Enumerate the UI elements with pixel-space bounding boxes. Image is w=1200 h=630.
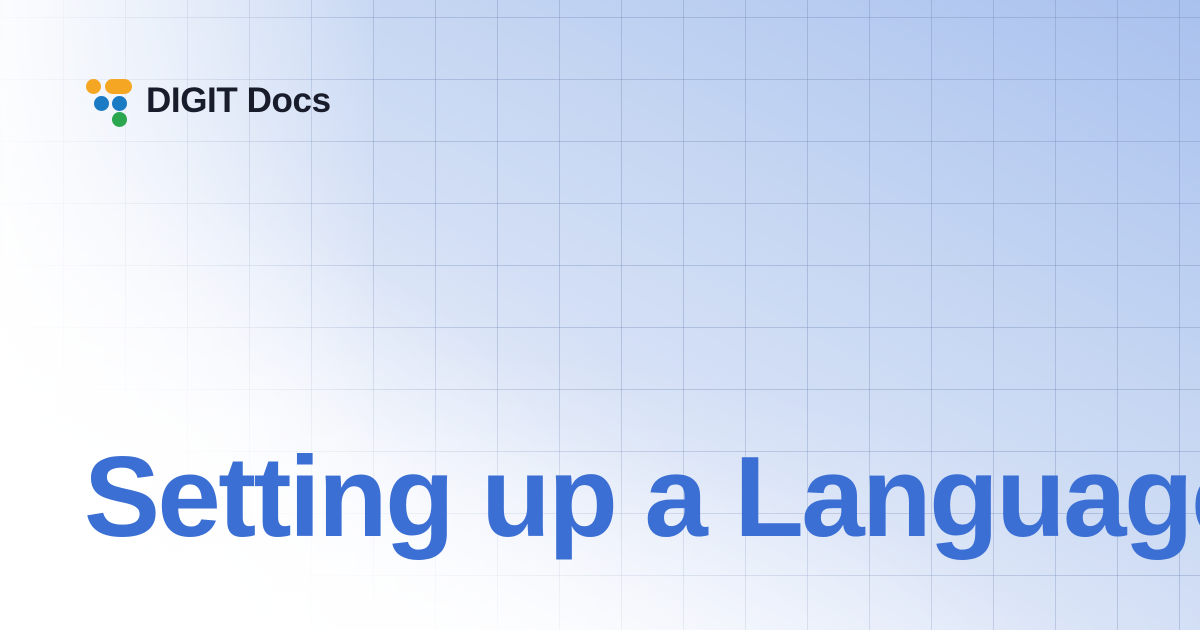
card-content: DIGIT Docs Setting up a Language <box>0 0 1200 630</box>
logo-orange-pill-icon <box>105 79 132 94</box>
brand-lockup: DIGIT Docs <box>84 72 331 128</box>
page-title: Setting up a Language <box>84 438 1116 558</box>
brand-name: DIGIT Docs <box>146 83 331 118</box>
og-card: DIGIT Docs Setting up a Language <box>0 0 1200 630</box>
digit-logo-icon <box>84 72 132 128</box>
logo-green-circle-icon <box>112 112 127 127</box>
logo-blue-circle-right-icon <box>112 96 127 111</box>
logo-blue-circle-left-icon <box>94 96 109 111</box>
logo-orange-small-circle-icon <box>86 79 101 94</box>
